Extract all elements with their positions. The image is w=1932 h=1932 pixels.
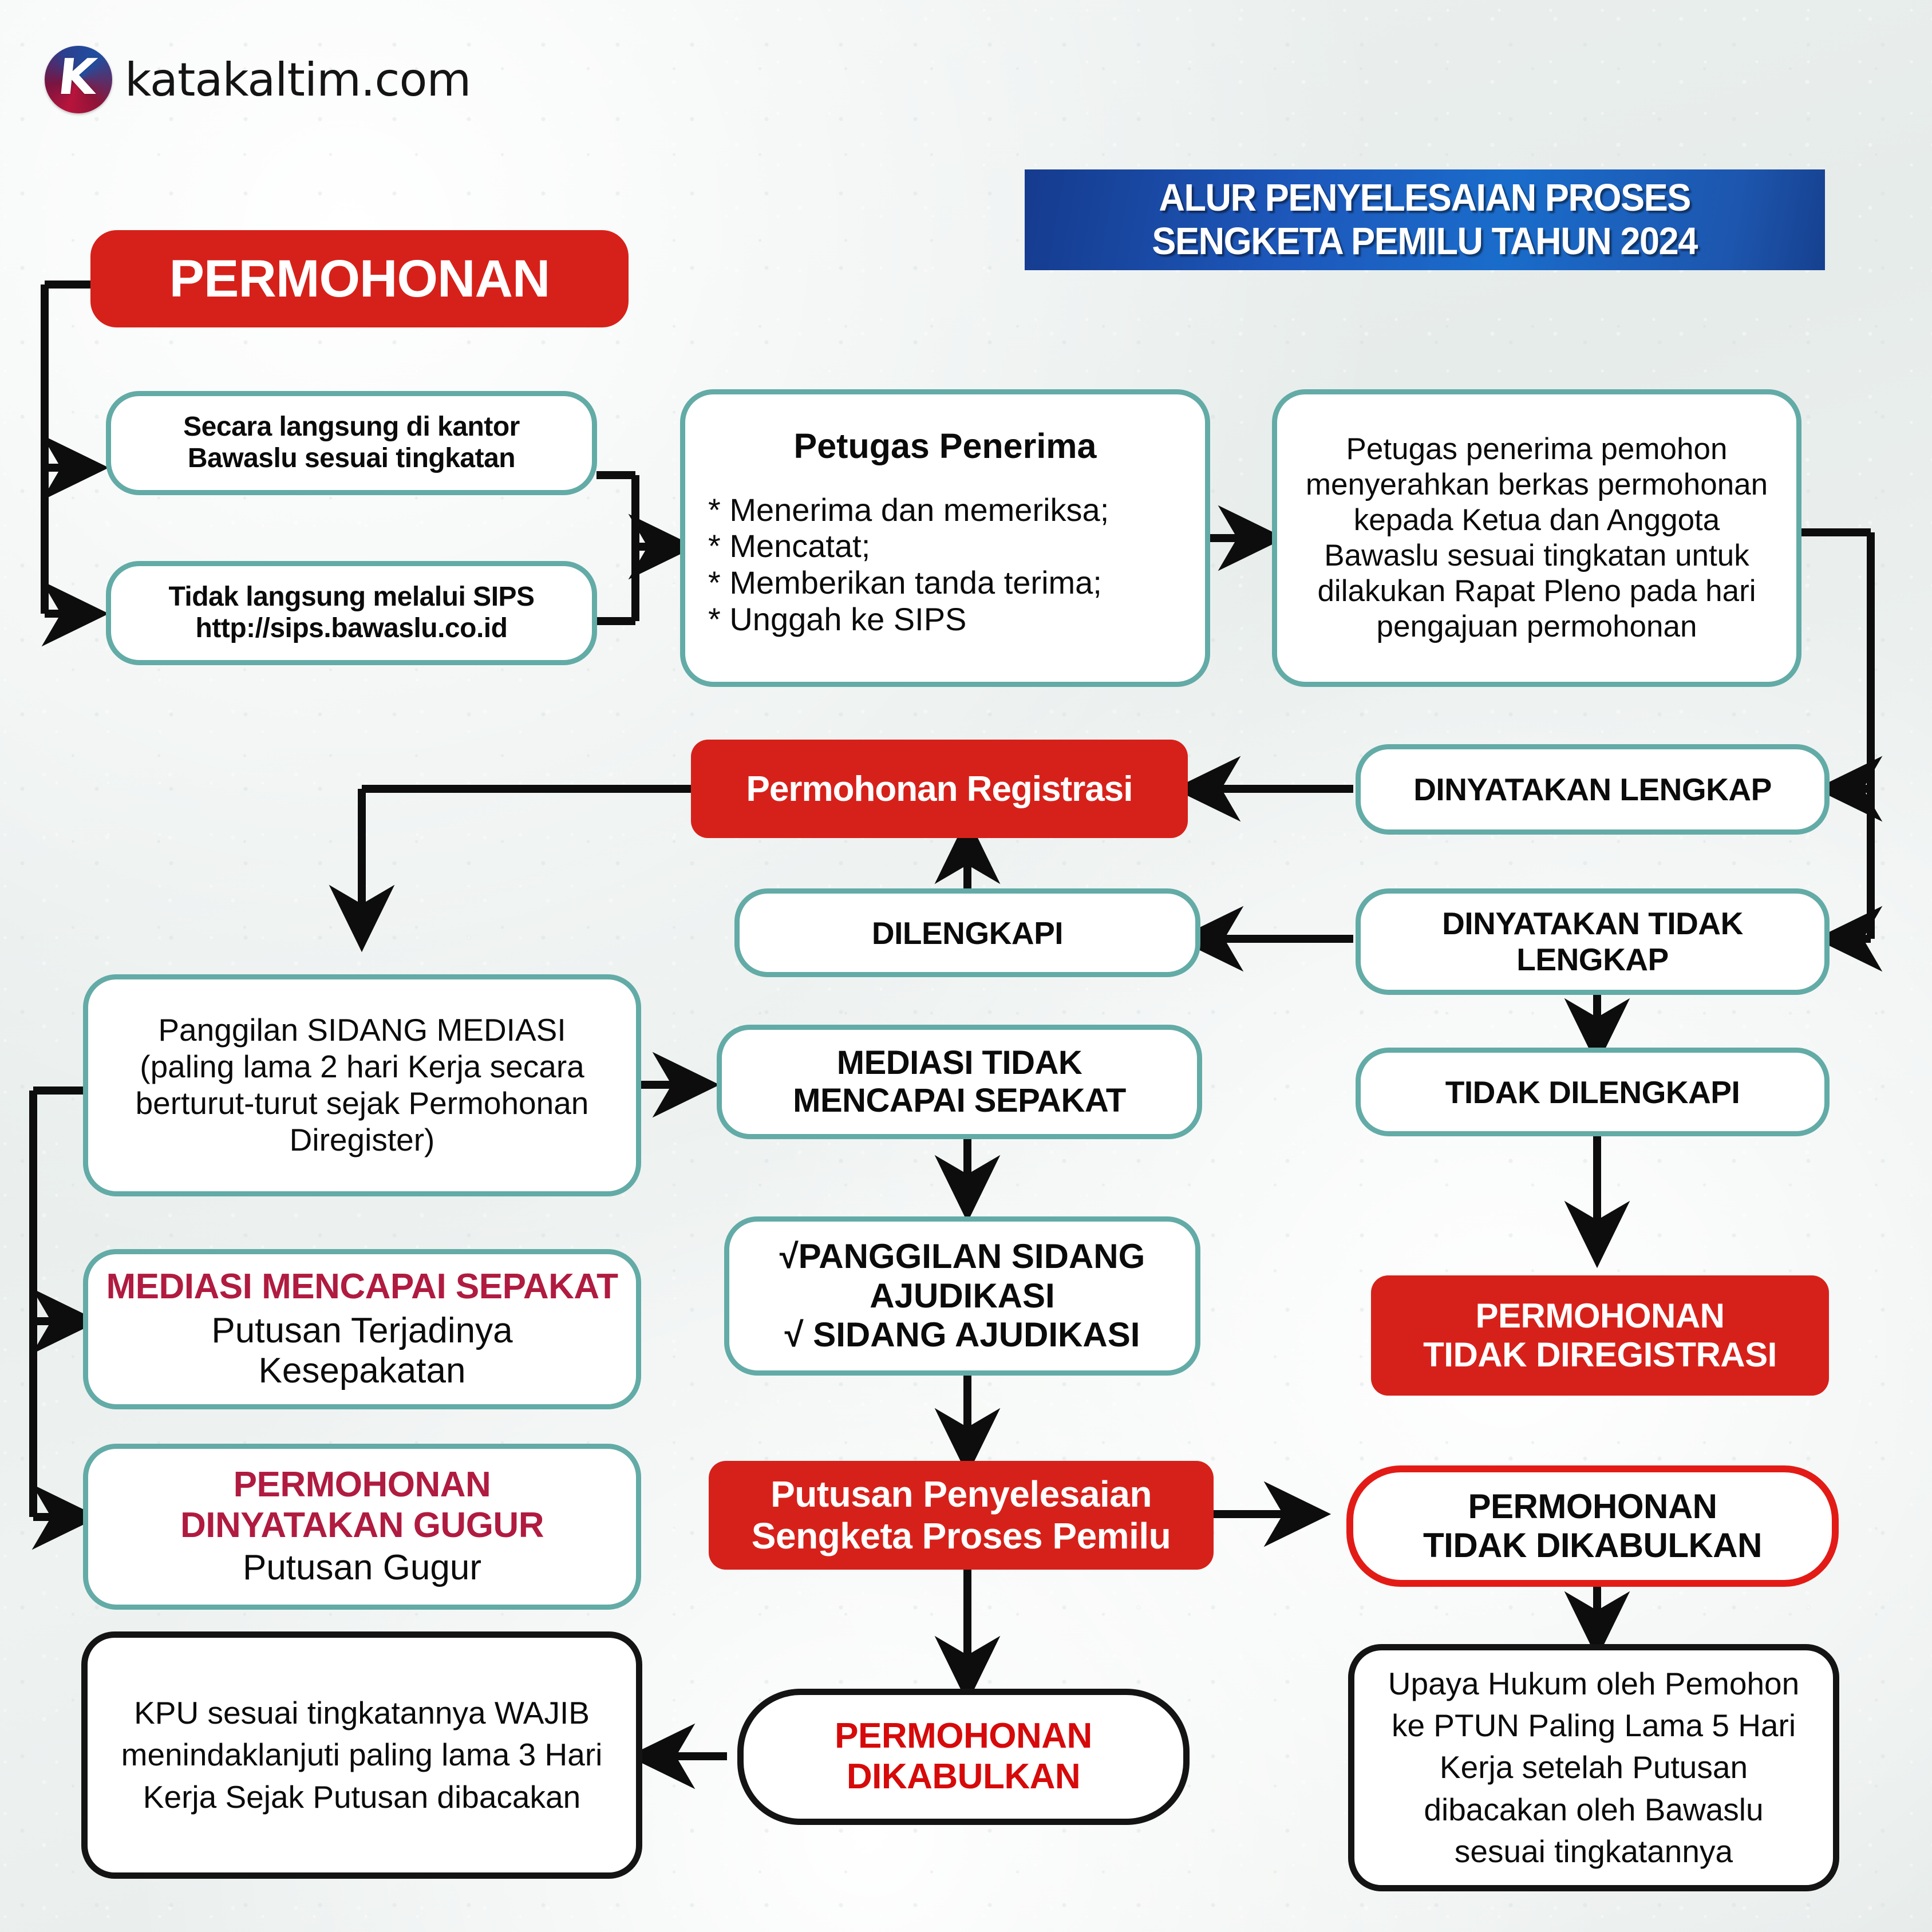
node-permohonan-gugur-heading-line1: PERMOHONAN	[234, 1465, 491, 1506]
node-tidak-dilengkapi-label: TIDAK DILENGKAPI	[1445, 1074, 1740, 1111]
node-secara-langsung-line1: Secara langsung di kantor	[183, 412, 520, 443]
node-upaya-hukum[interactable]: Upaya Hukum oleh Pemohon ke PTUN Paling …	[1348, 1644, 1839, 1891]
node-sips-line2: http://sips.bawaslu.co.id	[196, 613, 508, 645]
node-permohonan-tidak-dikabulkan[interactable]: PERMOHONAN TIDAK DIKABULKAN	[1346, 1465, 1839, 1587]
poster-title-line1: ALUR PENYELESAIAN PROSES	[1152, 176, 1698, 220]
node-panggilan-ajudikasi-line1: √PANGGILAN SIDANG	[780, 1237, 1145, 1276]
node-upaya-hukum-text: Upaya Hukum oleh Pemohon ke PTUN Paling …	[1377, 1663, 1810, 1872]
node-kpu-tindaklanjut[interactable]: KPU sesuai tingkatannya WAJIB menindakla…	[81, 1631, 642, 1879]
node-petugas-penerima[interactable]: Petugas Penerima * Menerima dan memeriks…	[680, 389, 1210, 687]
node-putusan-penyelesaian-line1: Putusan Penyelesaian	[771, 1473, 1152, 1515]
logo-mark-icon: K	[45, 46, 112, 113]
node-petugas-item-3: * Unggah ke SIPS	[708, 601, 1189, 638]
node-permohonan-dikabulkan-line2: DIKABULKAN	[847, 1757, 1080, 1797]
poster-title-banner: ALUR PENYELESAIAN PROSES SENGKETA PEMILU…	[1025, 169, 1825, 270]
node-sips-line1: Tidak langsung melalui SIPS	[168, 582, 534, 613]
node-mediasi-mencapai-sepakat-line2: Kesepakatan	[259, 1351, 466, 1392]
node-permohonan-tidak-dikabulkan-line1: PERMOHONAN	[1468, 1487, 1717, 1526]
node-permohonan-tidak-diregistrasi[interactable]: PERMOHONAN TIDAK DIREGISTRASI	[1371, 1275, 1829, 1396]
node-penyerahan-berkas[interactable]: Petugas penerima pemohon menyerahkan ber…	[1272, 389, 1801, 687]
node-secara-langsung-line2: Bawaslu sesuai tingkatan	[188, 443, 515, 475]
node-mediasi-mencapai-sepakat-line1: Putusan Terjadinya	[211, 1311, 512, 1352]
node-dinyatakan-lengkap-label: DINYATAKAN LENGKAP	[1413, 771, 1772, 808]
node-mediasi-tidak-sepakat-line1: MEDIASI TIDAK	[837, 1044, 1082, 1082]
node-petugas-penerima-title: Petugas Penerima	[794, 426, 1097, 467]
node-mediasi-tidak-sepakat-line2: MENCAPAI SEPAKAT	[793, 1082, 1126, 1120]
node-mediasi-mencapai-sepakat-heading: MEDIASI MENCAPAI SEPAKAT	[106, 1267, 618, 1307]
node-panggilan-ajudikasi[interactable]: √PANGGILAN SIDANG AJUDIKASI √ SIDANG AJU…	[724, 1216, 1200, 1376]
node-permohonan-tidak-diregistrasi-line1: PERMOHONAN	[1475, 1297, 1724, 1336]
node-dilengkapi[interactable]: DILENGKAPI	[734, 888, 1200, 977]
node-mediasi-tidak-sepakat[interactable]: MEDIASI TIDAK MENCAPAI SEPAKAT	[717, 1025, 1202, 1139]
node-secara-langsung[interactable]: Secara langsung di kantor Bawaslu sesuai…	[106, 391, 597, 495]
node-permohonan-dikabulkan[interactable]: PERMOHONAN DIKABULKAN	[737, 1689, 1190, 1825]
node-permohonan-dikabulkan-line1: PERMOHONAN	[835, 1716, 1092, 1757]
node-permohonan-tidak-diregistrasi-line2: TIDAK DIREGISTRASI	[1423, 1336, 1777, 1374]
node-petugas-item-1: * Mencatat;	[708, 528, 1189, 564]
node-dinyatakan-tidak-lengkap-line2: LENGKAP	[1516, 942, 1668, 978]
brand-wordmark: katakaltim.com	[125, 53, 471, 106]
node-putusan-penyelesaian-line2: Sengketa Proses Pemilu	[752, 1515, 1171, 1557]
logo-letter: K	[40, 44, 114, 111]
node-permohonan-tidak-dikabulkan-line2: TIDAK DIKABULKAN	[1423, 1526, 1762, 1565]
node-sips[interactable]: Tidak langsung melalui SIPS http://sips.…	[106, 561, 597, 665]
node-dinyatakan-tidak-lengkap[interactable]: DINYATAKAN TIDAK LENGKAP	[1356, 888, 1830, 995]
node-dilengkapi-label: DILENGKAPI	[872, 915, 1063, 951]
node-panggilan-sidang-mediasi-text: Panggilan SIDANG MEDIASI (paling lama 2 …	[109, 1012, 615, 1158]
node-permohonan-registrasi-label: Permohonan Registrasi	[746, 769, 1133, 809]
node-dinyatakan-tidak-lengkap-line1: DINYATAKAN TIDAK	[1442, 906, 1743, 942]
node-permohonan-registrasi[interactable]: Permohonan Registrasi	[691, 740, 1188, 838]
node-panggilan-sidang-mediasi[interactable]: Panggilan SIDANG MEDIASI (paling lama 2 …	[83, 974, 641, 1196]
node-permohonan-gugur-sub: Putusan Gugur	[243, 1548, 481, 1589]
node-kpu-tindaklanjut-text: KPU sesuai tingkatannya WAJIB menindakla…	[113, 1692, 611, 1818]
node-penyerahan-berkas-text: Petugas penerima pemohon menyerahkan ber…	[1301, 432, 1772, 645]
node-petugas-item-2: * Memberikan tanda terima;	[708, 564, 1189, 601]
site-logo: K katakaltim.com	[45, 46, 471, 113]
node-panggilan-ajudikasi-line3: √ SIDANG AJUDIKASI	[785, 1315, 1140, 1354]
node-petugas-item-0: * Menerima dan memeriksa;	[708, 492, 1189, 528]
node-permohonan-gugur-heading-line2: DINYATAKAN GUGUR	[180, 1506, 544, 1546]
node-dinyatakan-lengkap[interactable]: DINYATAKAN LENGKAP	[1356, 744, 1830, 835]
node-tidak-dilengkapi[interactable]: TIDAK DILENGKAPI	[1356, 1048, 1830, 1136]
poster-title-line2: SENGKETA PEMILU TAHUN 2024	[1152, 220, 1698, 263]
node-permohonan-gugur[interactable]: PERMOHONAN DINYATAKAN GUGUR Putusan Gugu…	[83, 1444, 641, 1610]
node-mediasi-mencapai-sepakat[interactable]: MEDIASI MENCAPAI SEPAKAT Putusan Terjadi…	[83, 1249, 641, 1409]
node-panggilan-ajudikasi-line2: AJUDIKASI	[870, 1277, 1054, 1315]
node-putusan-penyelesaian[interactable]: Putusan Penyelesaian Sengketa Proses Pem…	[709, 1461, 1214, 1570]
poster-title: ALUR PENYELESAIAN PROSES SENGKETA PEMILU…	[1152, 176, 1698, 264]
node-permohonan-label: PERMOHONAN	[169, 249, 550, 309]
node-permohonan[interactable]: PERMOHONAN	[90, 230, 629, 327]
node-petugas-penerima-list: * Menerima dan memeriksa; * Mencatat; * …	[701, 492, 1189, 638]
